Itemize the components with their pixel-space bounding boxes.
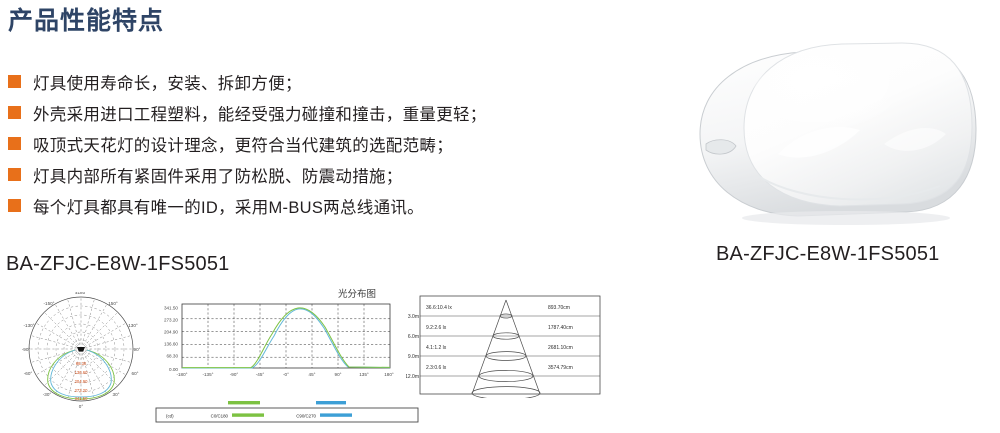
list-item: 灯具内部所有紧固件采用了防松脱、防震动措施； bbox=[8, 159, 648, 190]
svg-text:45°: 45° bbox=[309, 372, 316, 377]
svg-text:150°: 150° bbox=[108, 301, 118, 306]
svg-text:±180°: ±180° bbox=[75, 292, 87, 295]
feature-text: 灯具使用寿命长，安装、拆卸方便； bbox=[33, 70, 302, 94]
feature-text: 吸顶式天花灯的设计理念，更符合当代建筑的选配范畴； bbox=[33, 132, 453, 156]
svg-text:-130°: -130° bbox=[23, 323, 34, 328]
svg-text:-60°: -60° bbox=[24, 371, 33, 376]
list-item: 灯具使用寿命长，安装、拆卸方便； bbox=[8, 66, 648, 97]
svg-text:273.20: 273.20 bbox=[164, 318, 178, 323]
svg-text:36.6:10.4 lx: 36.6:10.4 lx bbox=[426, 305, 452, 311]
svg-text:3.0m: 3.0m bbox=[408, 314, 419, 320]
bullet-square-icon bbox=[8, 168, 21, 181]
bullet-square-icon bbox=[8, 137, 21, 150]
feature-text: 外壳采用进口工程塑料，能经受强力碰撞和撞击，重量更轻； bbox=[33, 101, 487, 125]
model-caption-left: BA-ZFJC-E8W-1FS5051 bbox=[6, 253, 230, 276]
polar-distribution-chart: 68.30 136.60 204.90 273.20 341.50 ±180° … bbox=[22, 292, 140, 414]
svg-text:-150°: -150° bbox=[43, 301, 54, 306]
cartesian-distribution-chart: 341.50 273.20 204.90 136.60 68.30 0.00 bbox=[148, 294, 398, 394]
list-item: 外壳采用进口工程塑料，能经受强力碰撞和撞击，重量更轻； bbox=[8, 97, 648, 128]
legend-swatch-c0-top bbox=[228, 401, 260, 404]
chart-legend: (cd) C0/C180 C90/C270 bbox=[154, 400, 424, 426]
svg-text:90°: 90° bbox=[335, 372, 342, 377]
list-item: 吸顶式天花灯的设计理念，更符合当代建筑的选配范畴； bbox=[8, 128, 648, 159]
svg-text:-45°: -45° bbox=[256, 372, 265, 377]
svg-text:136.60: 136.60 bbox=[75, 370, 88, 375]
svg-text:3574.79cm: 3574.79cm bbox=[548, 365, 573, 371]
photometric-diagram: 光分布图 bbox=[8, 288, 618, 428]
svg-text:180°: 180° bbox=[384, 372, 394, 377]
legend-swatch-c0 bbox=[232, 413, 264, 416]
svg-text:68.30: 68.30 bbox=[167, 354, 179, 359]
svg-text:60°: 60° bbox=[132, 371, 139, 376]
svg-text:9.2:2.6 lx: 9.2:2.6 lx bbox=[426, 325, 447, 331]
svg-text:-180°: -180° bbox=[176, 372, 187, 377]
x-axis-ticks: -180° -135° -90° -45° -0° 45° 90° 135° 1… bbox=[176, 372, 393, 377]
model-caption-right: BA-ZFJC-E8W-1FS5051 bbox=[716, 243, 940, 266]
svg-text:4.1:1.2 lx: 4.1:1.2 lx bbox=[426, 345, 447, 351]
svg-text:90°: 90° bbox=[134, 347, 140, 352]
svg-text:-0°: -0° bbox=[283, 372, 289, 377]
svg-text:204.90: 204.90 bbox=[75, 379, 88, 384]
svg-text:-30°: -30° bbox=[43, 392, 52, 397]
svg-text:2681.10cm: 2681.10cm bbox=[548, 345, 573, 351]
feature-text: 每个灯具都具有唯一的ID，采用M-BUS两总线通讯。 bbox=[33, 194, 424, 218]
list-item: 每个灯具都具有唯一的ID，采用M-BUS两总线通讯。 bbox=[8, 190, 648, 221]
feature-list: 灯具使用寿命长，安装、拆卸方便； 外壳采用进口工程塑料，能经受强力碰撞和撞击，重… bbox=[8, 66, 648, 221]
illuminance-cone-table: 3.0m 6.0m 9.0m 12.0m 36.6:10.4 lx 9.2:2.… bbox=[406, 294, 602, 398]
feature-text: 灯具内部所有紧固件采用了防松脱、防震动措施； bbox=[33, 163, 403, 187]
bullet-square-icon bbox=[8, 75, 21, 88]
lamp-diffuser bbox=[744, 43, 972, 206]
bullet-square-icon bbox=[8, 106, 21, 119]
svg-text:273.20: 273.20 bbox=[75, 388, 88, 393]
svg-text:2.3:0.6 lx: 2.3:0.6 lx bbox=[426, 365, 447, 371]
svg-text:135°: 135° bbox=[359, 372, 369, 377]
bullet-square-icon bbox=[8, 199, 21, 212]
svg-text:341.50: 341.50 bbox=[164, 306, 178, 311]
svg-text:204.90: 204.90 bbox=[164, 330, 178, 335]
legend-label-c90: C90/C270 bbox=[296, 414, 316, 419]
svg-text:-135°: -135° bbox=[202, 372, 213, 377]
svg-text:136.60: 136.60 bbox=[164, 342, 178, 347]
svg-text:12.0m: 12.0m bbox=[406, 374, 419, 380]
legend-label-c0: C0/C180 bbox=[211, 414, 229, 419]
svg-text:6.0m: 6.0m bbox=[408, 334, 419, 340]
svg-text:341.50: 341.50 bbox=[75, 396, 88, 401]
svg-text:9.0m: 9.0m bbox=[408, 354, 419, 360]
page-title: 产品性能特点 bbox=[8, 8, 164, 36]
svg-text:-90°: -90° bbox=[230, 372, 239, 377]
svg-text:-90°: -90° bbox=[22, 347, 30, 352]
svg-text:130°: 130° bbox=[128, 323, 138, 328]
photo-shadow bbox=[742, 211, 950, 225]
legend-swatch-c90-top bbox=[316, 401, 346, 404]
y-axis-ticks: 341.50 273.20 204.90 136.60 68.30 0.00 bbox=[164, 306, 179, 373]
legend-swatch-c90 bbox=[320, 413, 352, 416]
svg-text:893.70cm: 893.70cm bbox=[548, 305, 570, 311]
svg-text:30°: 30° bbox=[113, 392, 120, 397]
svg-text:68.30: 68.30 bbox=[76, 361, 87, 366]
svg-text:0°: 0° bbox=[79, 404, 84, 409]
distance-labels: 3.0m 6.0m 9.0m 12.0m bbox=[406, 314, 419, 380]
legend-unit-label: (cd) bbox=[166, 414, 174, 419]
svg-text:1787.40cm: 1787.40cm bbox=[548, 325, 573, 331]
product-photo bbox=[670, 26, 990, 231]
